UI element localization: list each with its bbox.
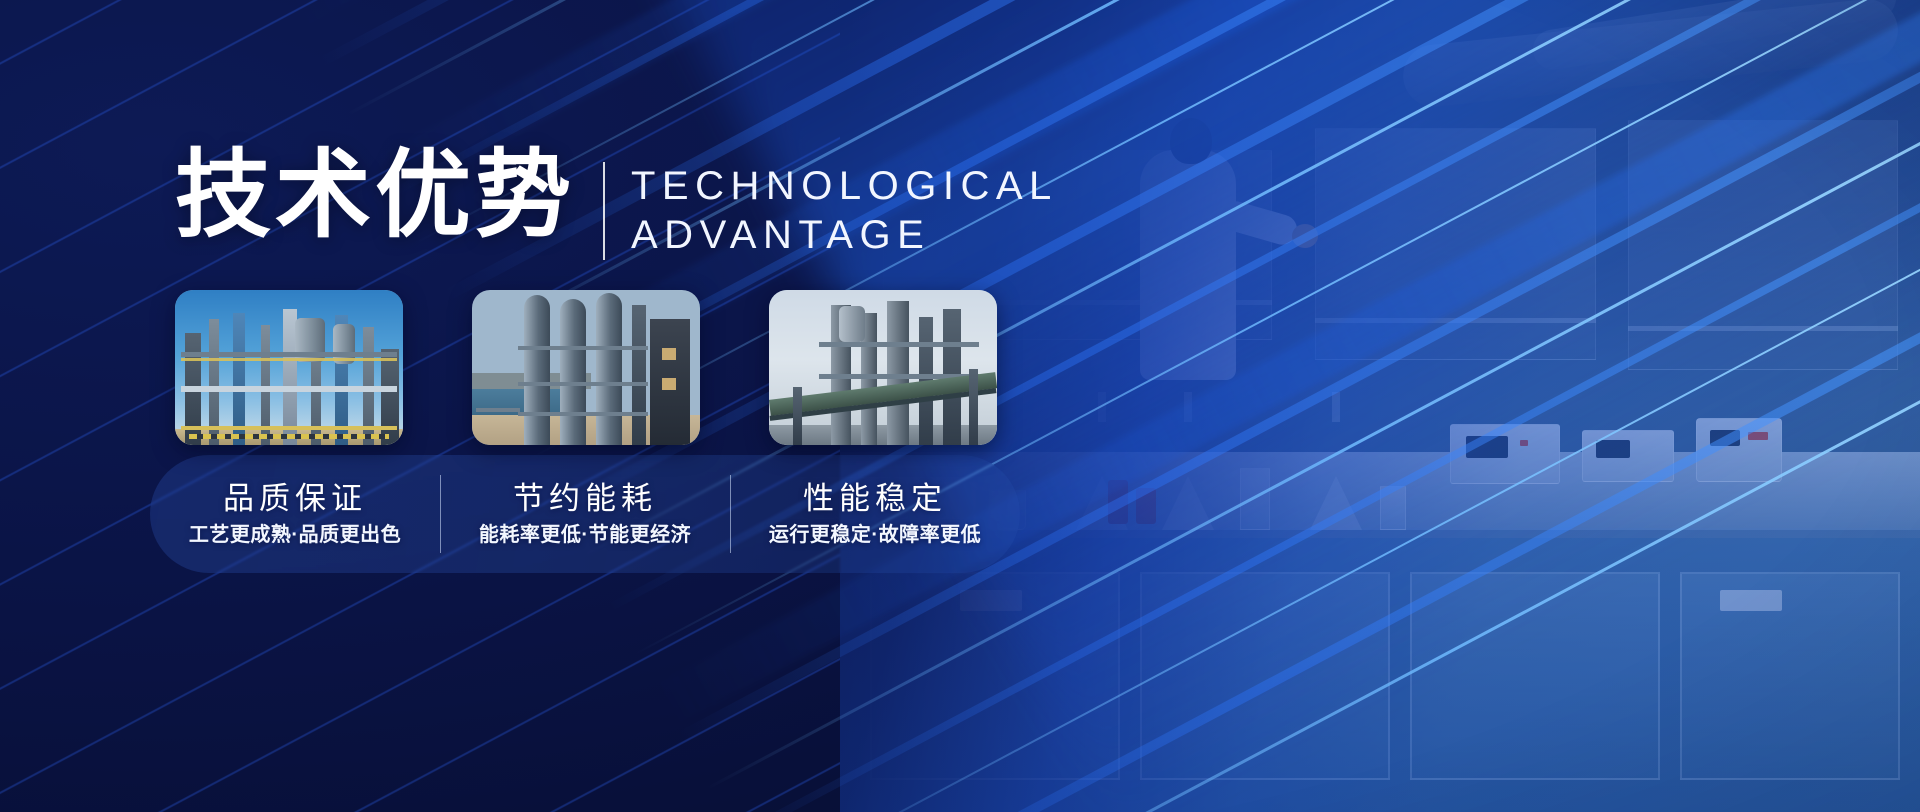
feature-title-stability: 性能稳定 (740, 481, 1010, 518)
feature-title-quality: 品质保证 (160, 481, 430, 518)
page-title-en: TECHNOLOGICAL ADVANTAGE (631, 146, 1058, 260)
plant-handrail-1 (181, 358, 397, 361)
photo-card-evaporation-tower (472, 290, 700, 445)
plant-walkway-1 (181, 352, 397, 357)
evaporator-tower-2 (560, 299, 586, 445)
feature-item-quality[interactable]: 品质保证 工艺更成熟·品质更出色 (150, 481, 440, 547)
title-en-line-1: TECHNOLOGICAL (631, 162, 1058, 211)
feature-subtitle-stability: 运行更稳定·故障率更低 (740, 523, 1010, 547)
distill-vessel-top (839, 306, 865, 342)
plant-handrail-2 (181, 426, 397, 430)
page-title-cn: 技术优势 (175, 146, 575, 247)
feature-title-energy: 节约能耗 (450, 481, 720, 518)
evaporator-pipe (632, 305, 646, 445)
feature-photo-gallery (175, 290, 997, 445)
plant-column-i (381, 349, 399, 445)
title-en-line-2: ADVANTAGE (631, 211, 1058, 260)
laboratory-photo (840, 0, 1920, 812)
evaporator-tower-1 (524, 295, 550, 445)
photo-card-distillation-unit (769, 290, 997, 445)
plant-safety-stripe (189, 434, 389, 439)
feature-item-energy[interactable]: 节约能耗 能耗率更低·节能更经济 (440, 481, 730, 547)
plant-walkway-2 (181, 386, 397, 392)
tower-platform-2 (518, 382, 648, 386)
photo-sky-3 (769, 290, 997, 445)
banner-heading: 技术优势 TECHNOLOGICAL ADVANTAGE (175, 146, 1058, 260)
photo-ground-3 (769, 425, 997, 445)
bridge-pillar-2 (969, 369, 978, 445)
feature-subtitle-quality: 工艺更成熟·品质更出色 (160, 523, 430, 547)
tower-platform-1 (518, 346, 648, 350)
feature-list: 品质保证 工艺更成熟·品质更出色 节约能耗 能耗率更低·节能更经济 性能稳定 运… (150, 455, 1020, 573)
bridge-pillar-1 (793, 387, 802, 445)
building-window-2 (662, 378, 676, 390)
title-divider (603, 162, 605, 260)
technological-advantage-banner: 技术优势 TECHNOLOGICAL ADVANTAGE (0, 0, 1920, 812)
tower-platform-3 (518, 412, 648, 416)
feature-subtitle-energy: 能耗率更低·节能更经济 (450, 523, 720, 547)
building-window-1 (662, 348, 676, 360)
pipe-bridge (476, 408, 520, 412)
feature-item-stability[interactable]: 性能稳定 运行更稳定·故障率更低 (730, 481, 1020, 547)
distill-column-3 (887, 301, 909, 445)
evaporator-tower-3 (596, 293, 622, 445)
distill-platform-1 (819, 342, 979, 347)
photo-card-chemical-plant (175, 290, 403, 445)
lab-depth-overlay (840, 0, 1920, 812)
